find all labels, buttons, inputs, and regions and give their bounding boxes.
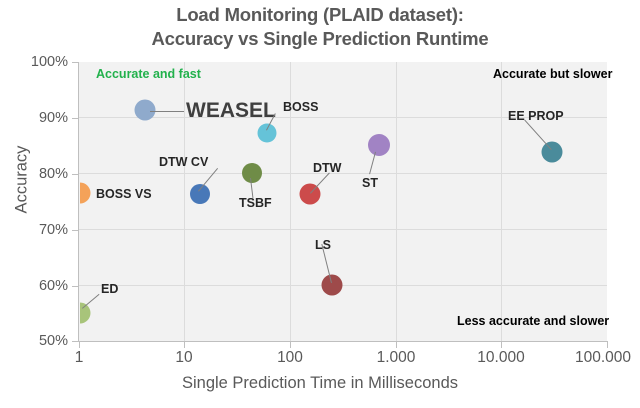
x-tick-10000	[501, 342, 502, 348]
y-tick-90	[72, 118, 78, 119]
x-axis-title: Single Prediction Time in Milliseconds	[0, 374, 640, 393]
scatter-chart: Load Monitoring (PLAID dataset): Accurac…	[0, 0, 640, 408]
data-point-weasel[interactable]	[135, 100, 156, 121]
data-point-label-boss-vs: BOSS VS	[96, 188, 152, 201]
x-tick-100000	[607, 342, 608, 348]
chart-title-line-2: Accuracy vs Single Prediction Runtime	[0, 27, 640, 51]
y-tick-label-70: 70%	[39, 223, 68, 238]
annotation-less-accurate-and-slower: Less accurate and slower	[457, 314, 609, 328]
data-point-label-dtw: DTW	[313, 162, 341, 175]
data-point-st[interactable]	[368, 134, 390, 156]
data-point-label-weasel: WEASEL	[186, 100, 276, 122]
x-tick-label-10: 10	[175, 350, 192, 366]
data-point-ed[interactable]	[70, 303, 91, 324]
x-tick-label-10000: 10.000	[477, 350, 524, 366]
data-point-label-ls: LS	[315, 239, 331, 252]
gridline-y-70	[79, 229, 607, 230]
plot-area	[79, 62, 607, 341]
y-tick-label-60: 60%	[39, 279, 68, 294]
x-tick-1000	[396, 342, 397, 348]
data-point-boss-vs[interactable]	[70, 183, 91, 204]
x-tick-label-100: 100	[277, 350, 303, 366]
y-tick-80	[72, 174, 78, 175]
annotation-accurate-and-fast: Accurate and fast	[96, 67, 201, 81]
data-point-label-tsbf: TSBF	[239, 197, 272, 210]
gridline-y-80	[79, 173, 607, 174]
chart-title: Load Monitoring (PLAID dataset): Accurac…	[0, 3, 640, 51]
data-point-label-dtw-cv: DTW CV	[159, 156, 208, 169]
y-axis-title: Accuracy	[13, 100, 32, 260]
y-tick-70	[72, 230, 78, 231]
x-tick-100	[290, 342, 291, 348]
gridline-x-1000	[396, 62, 397, 341]
x-axis-line	[78, 341, 608, 342]
data-point-dtw[interactable]	[300, 184, 321, 205]
y-tick-50	[72, 341, 78, 342]
y-tick-100	[72, 62, 78, 63]
data-point-label-ee-prop: EE PROP	[508, 110, 564, 123]
y-tick-label-90: 90%	[39, 111, 68, 126]
y-tick-label-50: 50%	[39, 334, 68, 349]
y-tick-label-100: 100%	[31, 55, 68, 70]
x-tick-10	[184, 342, 185, 348]
data-point-ls[interactable]	[322, 275, 343, 296]
data-point-label-ed: ED	[101, 283, 118, 296]
y-axis-line	[78, 62, 79, 342]
gridline-y-60	[79, 285, 607, 286]
data-point-tsbf[interactable]	[242, 163, 262, 183]
data-point-label-st: ST	[362, 177, 378, 190]
gridline-x-10	[184, 62, 185, 341]
x-tick-label-100000: 100.000	[575, 350, 631, 366]
gridline-x-10000	[501, 62, 502, 341]
annotation-accurate-but-slower: Accurate but slower	[493, 67, 612, 81]
x-tick-label-1: 1	[75, 350, 84, 366]
y-tick-label-80: 80%	[39, 167, 68, 182]
leader-line-weasel	[150, 111, 184, 112]
chart-title-line-1: Load Monitoring (PLAID dataset):	[0, 3, 640, 27]
x-tick-label-1000: 1.000	[377, 350, 416, 366]
data-point-ee-prop[interactable]	[542, 142, 563, 163]
x-tick-1	[79, 342, 80, 348]
y-tick-60	[72, 286, 78, 287]
data-point-label-boss: BOSS	[283, 101, 318, 114]
